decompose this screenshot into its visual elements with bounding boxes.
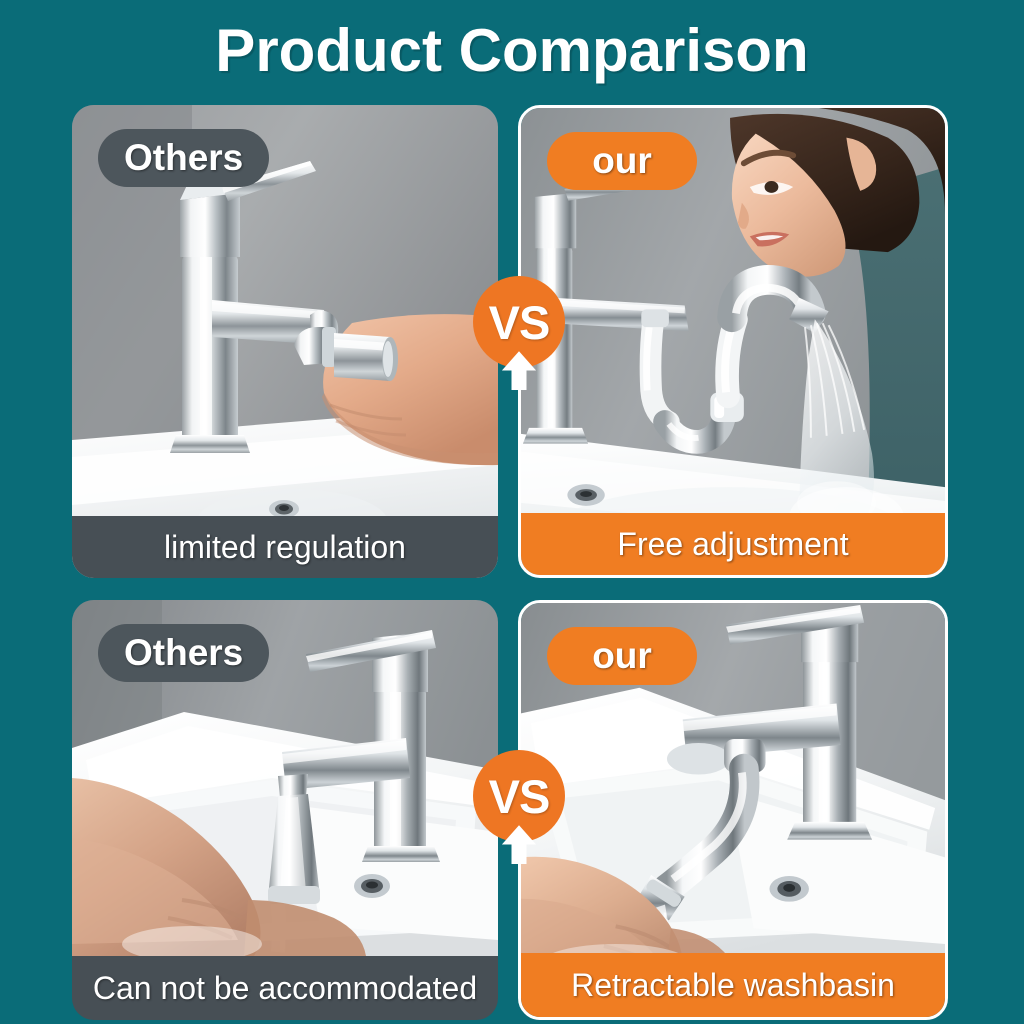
comparison-grid: Others limited regulation bbox=[0, 0, 1024, 1024]
vs-label: VS bbox=[489, 773, 550, 820]
comparison-card-top-right[interactable]: our Free adjustment bbox=[518, 105, 948, 578]
caption-retractable-washbasin: Retractable washbasin bbox=[521, 953, 945, 1017]
badge-our: our bbox=[547, 627, 697, 685]
caption-limited-regulation: limited regulation bbox=[72, 516, 498, 578]
comparison-card-bottom-right[interactable]: our Retractable washbasin bbox=[518, 600, 948, 1020]
up-arrow-icon bbox=[501, 350, 537, 390]
caption-free-adjustment: Free adjustment bbox=[521, 513, 945, 575]
vs-label: VS bbox=[489, 299, 550, 346]
up-arrow-icon bbox=[501, 824, 537, 864]
badge-our: our bbox=[547, 132, 697, 190]
comparison-card-top-left[interactable]: Others limited regulation bbox=[72, 105, 498, 578]
comparison-card-bottom-left[interactable]: Others Can not be accommodated bbox=[72, 600, 498, 1020]
badge-others: Others bbox=[98, 129, 269, 187]
badge-others: Others bbox=[98, 624, 269, 682]
caption-can-not-be-accommodated: Can not be accommodated bbox=[72, 956, 498, 1020]
